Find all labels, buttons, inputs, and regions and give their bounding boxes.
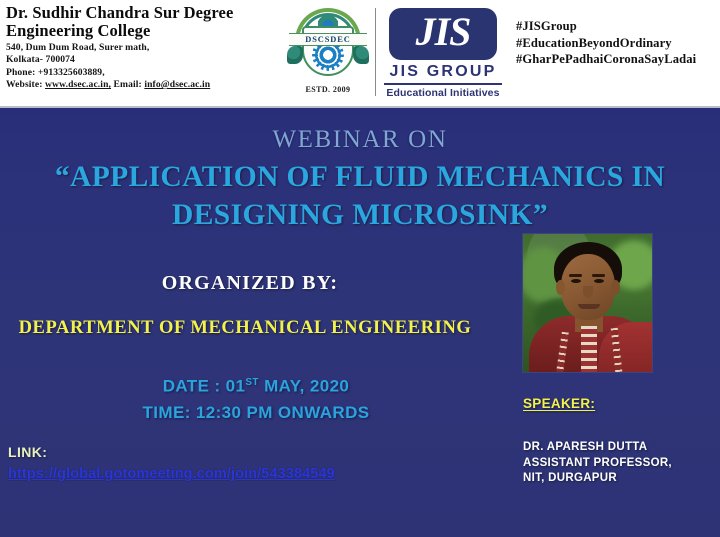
college-identity-block: Dr. Sudhir Chandra Sur Degree Engineerin… [0, 0, 278, 92]
speaker-label: SPEAKER: [523, 396, 595, 411]
college-address-block: 540, Dum Dum Road, Surer math, Kolkata- … [6, 42, 278, 92]
organized-by-label: ORGANIZED BY: [0, 272, 500, 295]
website-label: Website: [6, 79, 43, 90]
jis-tagline: Educational Initiatives [386, 87, 499, 99]
speaker-designation: ASSISTANT PROFESSOR, [523, 456, 713, 472]
speaker-ear-left [556, 280, 565, 295]
crest-banner: DSCSDEC [289, 33, 367, 46]
page-title: “APPLICATION OF FLUID MECHANICS IN DESIG… [0, 158, 720, 234]
speaker-eye-left [571, 279, 581, 283]
jis-badge-icon: JIS [389, 8, 497, 60]
college-crest-logo: DSCSDEC ESTD. 2009 [278, 0, 378, 108]
title-line-2: DESIGNING MICROSINK” [0, 196, 720, 234]
link-label: LINK: [8, 444, 428, 460]
header-divider [375, 8, 377, 96]
college-address-line-2: Kolkata- 700074 [6, 54, 278, 66]
speaker-photo [523, 234, 652, 372]
hashtag-item: #JISGroup [516, 18, 720, 35]
hashtag-item: #GharPePadhaiCoronaSayLadai [516, 51, 720, 68]
crest-estd-text: ESTD. 2009 [306, 85, 351, 94]
college-name-line-1: Dr. Sudhir Chandra Sur Degree [6, 4, 278, 22]
meeting-link-block: LINK: https://global.gotomeeting.com/joi… [8, 444, 428, 483]
speaker-institute: NIT, DURGAPUR [523, 471, 713, 487]
speaker-name: DR. APARESH DUTTA [523, 440, 713, 456]
event-time: TIME: 12:30 PM ONWARDS [0, 400, 512, 426]
jis-group-text: JIS GROUP [390, 63, 497, 81]
webinar-poster: Dr. Sudhir Chandra Sur Degree Engineerin… [0, 0, 720, 537]
speaker-info-block: DR. APARESH DUTTA ASSISTANT PROFESSOR, N… [523, 440, 713, 487]
poster-header: Dr. Sudhir Chandra Sur Degree Engineerin… [0, 0, 720, 108]
email-value[interactable]: info@dsec.ac.in [144, 79, 210, 90]
jis-group-logo: JIS JIS GROUP Educational Initiatives [378, 0, 508, 108]
college-name-line-2: Engineering College [6, 22, 278, 40]
title-line-1: “APPLICATION OF FLUID MECHANICS IN [0, 158, 720, 196]
webinar-on-label: WEBINAR ON [0, 126, 720, 154]
speaker-mouth [578, 304, 600, 309]
meeting-link[interactable]: https://global.gotomeeting.com/join/5433… [8, 466, 335, 482]
email-label: Email: [114, 79, 142, 90]
hashtag-item: #EducationBeyondOrdinary [516, 35, 720, 52]
jis-rule [384, 83, 502, 85]
crest-leaf-right-icon [353, 46, 369, 64]
date-ordinal-suffix: ST [245, 377, 259, 388]
crest-sunburst-icon [318, 14, 338, 26]
crest-banner-text: DSCSDEC [305, 35, 350, 44]
jis-badge-text: JIS [416, 12, 471, 52]
website-value[interactable]: www.dsec.ac.in, [45, 79, 111, 90]
speaker-brow-left [569, 274, 582, 277]
college-phone: Phone: +913325603889, [6, 67, 278, 79]
college-web-email: Website: www.dsec.ac.in, Email: info@dse… [6, 79, 278, 91]
speaker-ear-right [611, 280, 620, 295]
speaker-brow-right [592, 274, 605, 277]
date-prefix: DATE : 01 [163, 377, 246, 396]
speaker-eye-right [594, 279, 604, 283]
crest-leaf-left-icon [287, 46, 303, 64]
speaker-kurta-placket [581, 326, 597, 372]
event-date: DATE : 01ST MAY, 2020 [0, 370, 512, 400]
college-address-line-1: 540, Dum Dum Road, Surer math, [6, 42, 278, 54]
date-suffix: MAY, 2020 [259, 377, 349, 396]
speaker-nose [583, 286, 593, 298]
date-time-block: DATE : 01ST MAY, 2020 TIME: 12:30 PM ONW… [0, 370, 512, 426]
department-name: DEPARTMENT OF MECHANICAL ENGINEERING [0, 318, 490, 339]
crest-icon: DSCSDEC [287, 6, 369, 84]
hashtag-block: #JISGroup #EducationBeyondOrdinary #Ghar… [508, 0, 720, 68]
